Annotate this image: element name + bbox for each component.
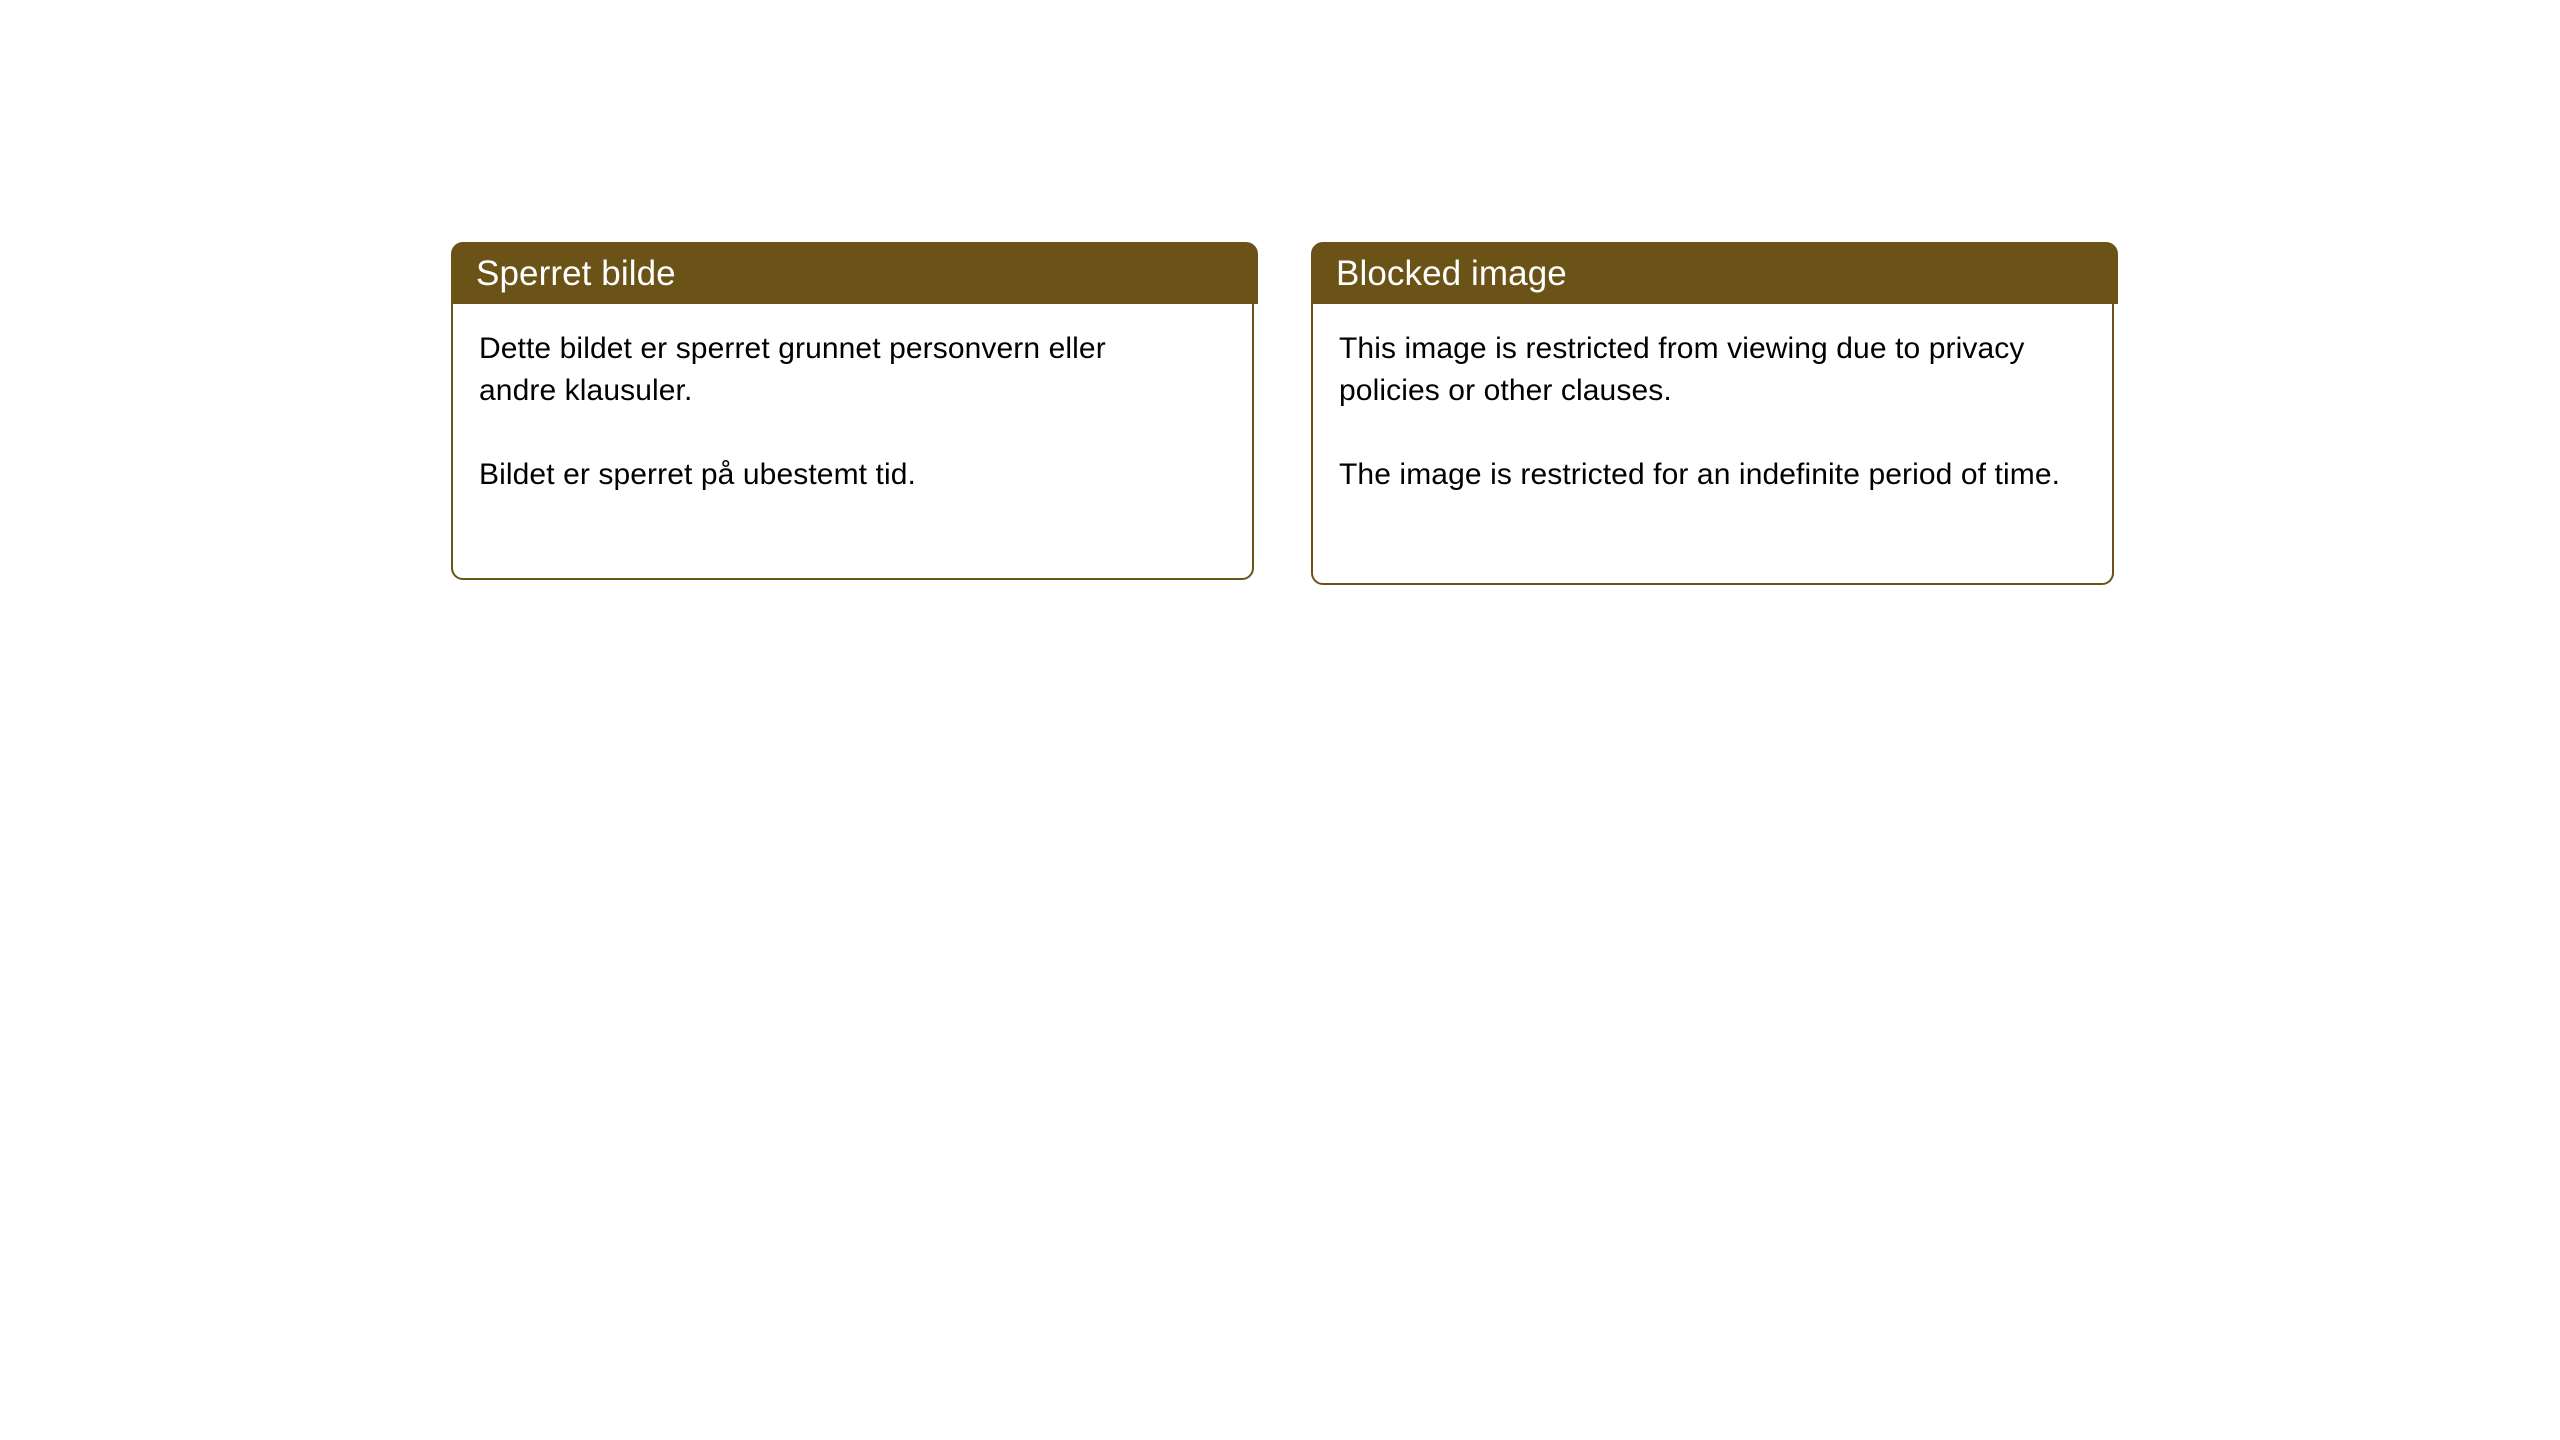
blocked-image-card-english: Blocked image This image is restricted f… xyxy=(1311,242,2114,585)
blocked-image-notice-area: Sperret bilde Dette bildet er sperret gr… xyxy=(0,0,2560,1440)
card-paragraph-secondary: The image is restricted for an indefinit… xyxy=(1339,454,2086,496)
card-title: Blocked image xyxy=(1336,256,1567,291)
card-paragraph-primary: Dette bildet er sperret grunnet personve… xyxy=(479,328,1179,412)
card-title: Sperret bilde xyxy=(476,256,676,291)
card-header-bar: Blocked image xyxy=(1312,242,2118,304)
paragraph-spacer xyxy=(479,412,1226,454)
card-body: Dette bildet er sperret grunnet personve… xyxy=(453,304,1252,578)
card-paragraph-primary: This image is restricted from viewing du… xyxy=(1339,328,2086,412)
card-header-bar: Sperret bilde xyxy=(452,242,1258,304)
card-body: This image is restricted from viewing du… xyxy=(1313,304,2112,583)
blocked-image-card-norwegian: Sperret bilde Dette bildet er sperret gr… xyxy=(451,242,1254,580)
paragraph-spacer xyxy=(1339,412,2086,454)
card-paragraph-secondary: Bildet er sperret på ubestemt tid. xyxy=(479,454,1179,496)
